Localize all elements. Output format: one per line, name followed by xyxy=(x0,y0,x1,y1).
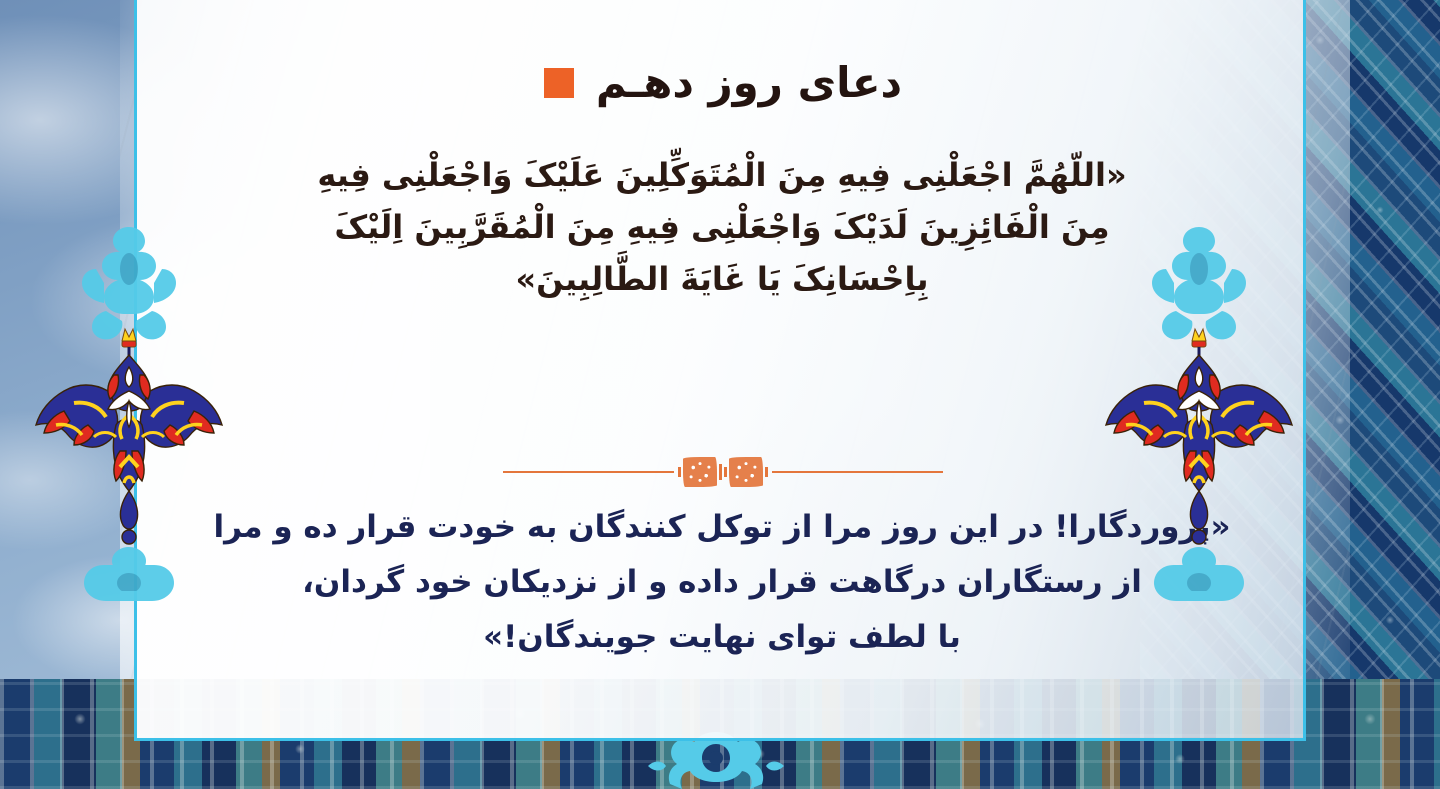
arabic-prayer-text: «اللّهُمَّ اجْعَلْنِی فِیهِ مِنَ الْمُتَ… xyxy=(217,150,1227,305)
arabic-line-3: بِاِحْسَانِکَ یَا غَایَةَ الطَّالِبِینَ» xyxy=(217,254,1227,306)
divider-rule-left xyxy=(772,471,943,473)
arabic-line-2: مِنَ الْفَائِزِینَ لَدَیْکَ وَاجْعَلْنِی… xyxy=(217,202,1227,254)
persian-tazhib-medallion-right-icon xyxy=(1104,225,1294,605)
persian-line-3: با لطف توای نهایت جویندگان!» xyxy=(177,610,1267,665)
divider-medallion-icon xyxy=(674,457,772,487)
arabic-line-1: «اللّهُمَّ اجْعَلْنِی فِیهِ مِنَ الْمُتَ… xyxy=(217,150,1227,202)
persian-tazhib-medallion-left-icon xyxy=(34,225,224,605)
page-title-row: دعای روز دهـم xyxy=(137,62,1309,104)
ornamental-divider xyxy=(503,452,943,492)
orange-square-bullet-icon xyxy=(544,68,574,98)
divider-rule-right xyxy=(503,471,674,473)
page-title: دعای روز دهـم xyxy=(596,62,902,104)
